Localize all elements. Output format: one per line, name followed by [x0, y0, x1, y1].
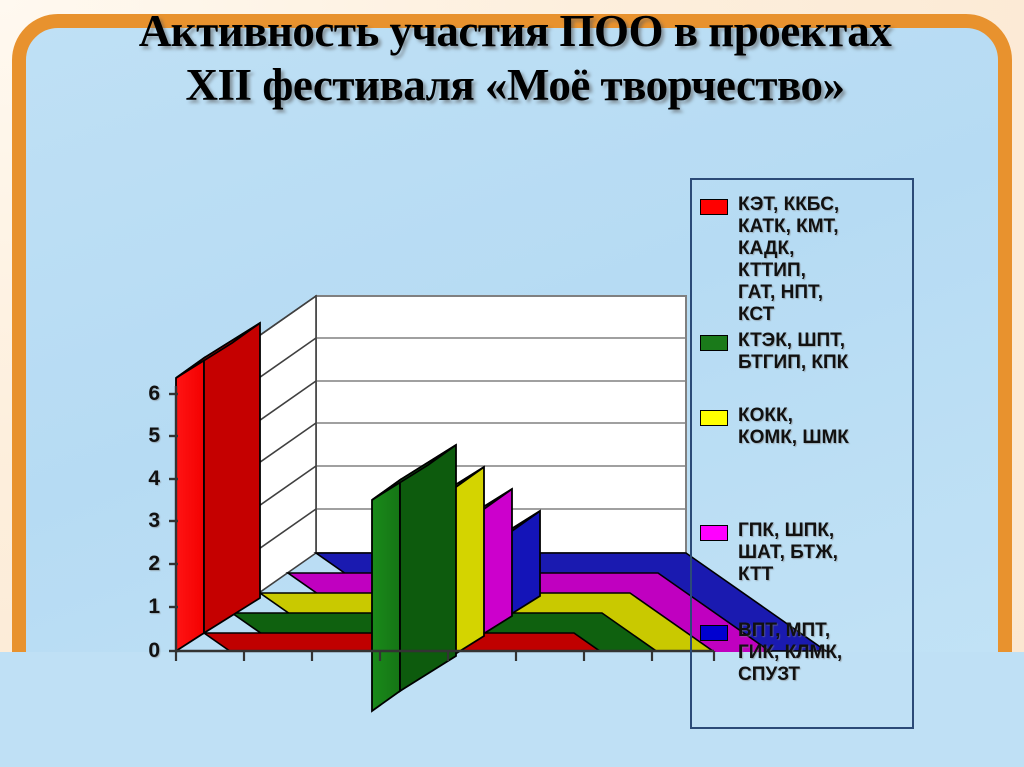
y-tick-2: 2: [130, 552, 160, 576]
legend-item-2[interactable]: КТЭК, ШПТ, БТГИП, КПК: [700, 330, 848, 374]
y-tick-4: 4: [130, 467, 160, 491]
y-tick-3: 3: [130, 509, 160, 533]
legend-item-4[interactable]: ГПК, ШПК, ШАТ, БТЖ, КТТ: [700, 520, 838, 586]
legend-label-3: КОКК, КОМК, ШМК: [738, 405, 849, 449]
legend-label-2: КТЭК, ШПТ, БТГИП, КПК: [738, 330, 848, 374]
bar-series-1-red: [176, 323, 260, 651]
legend-swatch-red-icon: [700, 199, 728, 215]
legend-swatch-yellow-icon: [700, 410, 728, 426]
legend-swatch-green-icon: [700, 335, 728, 351]
legend-item-3[interactable]: КОКК, КОМК, ШМК: [700, 405, 849, 449]
y-tick-5: 5: [130, 424, 160, 448]
legend-swatch-blue-icon: [700, 625, 728, 641]
chart-legend: КЭТ, ККБС, КАТК, КМТ, КАДК, КТТИП, ГАТ, …: [690, 178, 914, 729]
legend-swatch-magenta-icon: [700, 525, 728, 541]
legend-item-5[interactable]: ВПТ, МПТ, ГИК, КЛМК, СПУЗТ: [700, 620, 842, 686]
legend-label-5: ВПТ, МПТ, ГИК, КЛМК, СПУЗТ: [738, 620, 842, 686]
y-tick-6: 6: [130, 382, 160, 406]
legend-label-1: КЭТ, ККБС, КАТК, КМТ, КАДК, КТТИП, ГАТ, …: [738, 194, 839, 326]
y-tick-1: 1: [130, 595, 160, 619]
legend-label-4: ГПК, ШПК, ШАТ, БТЖ, КТТ: [738, 520, 838, 586]
legend-item-1[interactable]: КЭТ, ККБС, КАТК, КМТ, КАДК, КТТИП, ГАТ, …: [700, 194, 839, 326]
slide-canvas: Активность участия ПОО в проектах XII фе…: [0, 0, 1024, 767]
y-tick-0: 0: [130, 639, 160, 663]
